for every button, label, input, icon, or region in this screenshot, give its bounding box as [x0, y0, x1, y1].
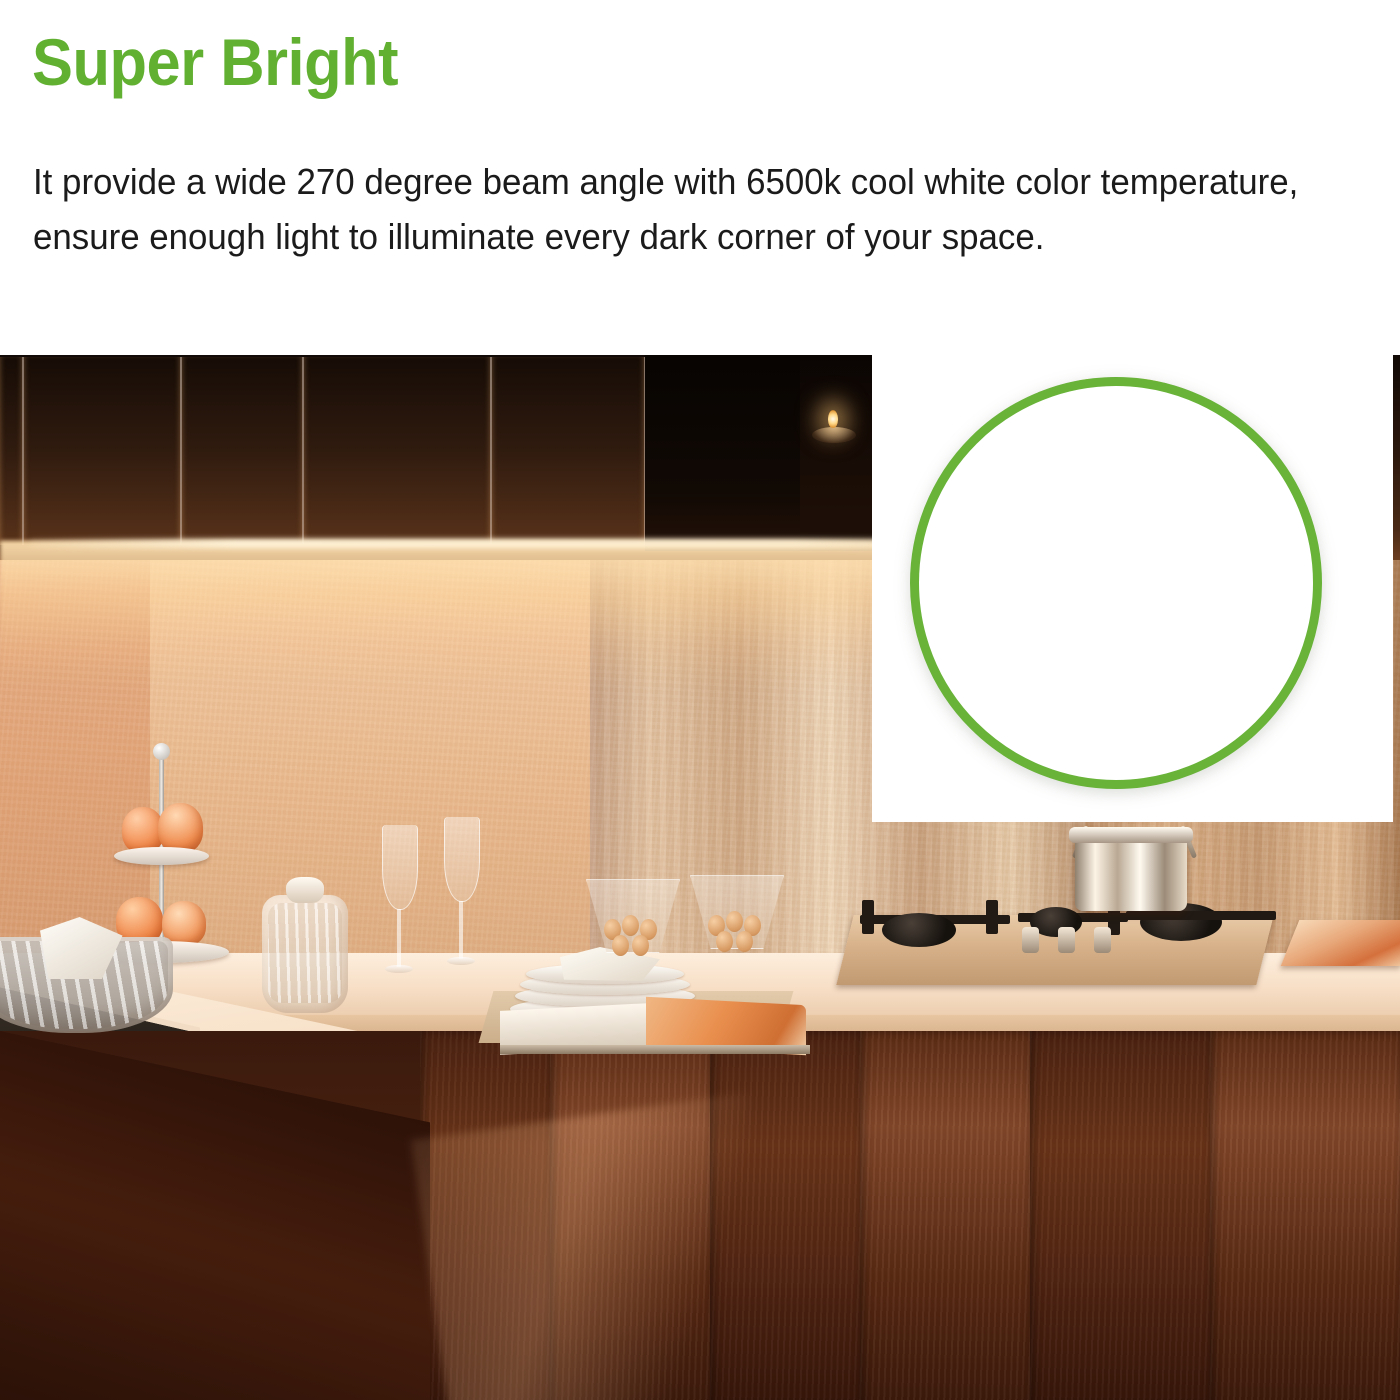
product-feature-banner: Super Bright It provide a wide 270 degre…	[0, 0, 1400, 1400]
stand-finial	[153, 743, 170, 760]
nut	[726, 911, 743, 932]
burner-knob	[1058, 927, 1075, 953]
upper-cabinet-dark-recess	[645, 355, 815, 551]
cabinet-reflection	[411, 1093, 789, 1400]
beam-angle-inset-panel: 270°	[872, 355, 1393, 822]
candle-flame	[828, 410, 838, 428]
burner-knob	[1094, 927, 1111, 953]
flute-foot	[385, 965, 413, 973]
stand-tier-plate	[114, 847, 209, 865]
flute-bowl	[382, 825, 418, 910]
candle-holder	[812, 427, 856, 443]
book-edge	[500, 1045, 810, 1054]
champagne-flute	[382, 825, 418, 975]
description-text: It provide a wide 270 degree beam angle …	[33, 154, 1327, 264]
diagram-circle-outline	[910, 377, 1322, 789]
nut	[622, 915, 639, 936]
nut	[716, 931, 733, 952]
burner-grate	[1126, 911, 1276, 920]
upper-cabinet-door	[492, 357, 646, 545]
flute-stem	[459, 901, 463, 959]
lower-cabinet-door	[1210, 1031, 1400, 1400]
cutting-board	[1281, 920, 1400, 966]
nut	[736, 931, 753, 952]
upper-cabinet-door	[182, 357, 304, 545]
glass-jar	[262, 877, 348, 1013]
lower-cabinet-door	[1030, 1031, 1211, 1400]
stainless-pot	[1075, 837, 1187, 911]
pot-lid	[1069, 827, 1193, 843]
jar-lid	[286, 877, 324, 903]
nut	[632, 935, 649, 956]
page-title: Super Bright	[32, 24, 398, 100]
upper-cabinet-door	[0, 357, 24, 545]
burner-grate	[862, 900, 874, 934]
lower-cabinet-door	[860, 1031, 1031, 1400]
nut	[612, 935, 629, 956]
champagne-flute	[444, 817, 480, 969]
upper-cabinet-door	[304, 357, 492, 545]
flute-stem	[397, 909, 401, 967]
burner	[882, 913, 956, 947]
open-cookbook	[500, 995, 800, 1057]
text-block: Super Bright It provide a wide 270 degre…	[0, 0, 1400, 355]
pastry	[158, 803, 203, 853]
burner-grate	[986, 900, 998, 934]
flute-bowl	[444, 817, 480, 902]
wire-fruit-bowl	[0, 915, 178, 1045]
burner-knob	[1022, 927, 1039, 953]
flute-foot	[447, 957, 475, 965]
jar-facets	[268, 903, 342, 1003]
beam-angle-diagram: 270°	[910, 377, 1322, 789]
upper-cabinet-door	[24, 357, 182, 545]
